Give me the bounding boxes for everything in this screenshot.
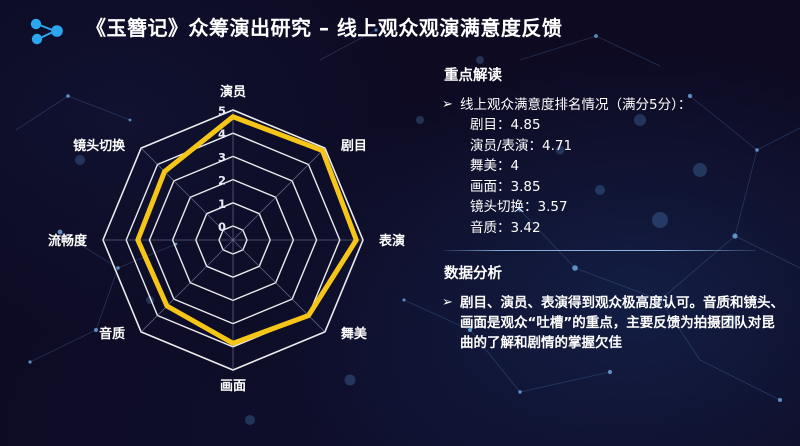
radar-axis-label-5: 音质 [99, 326, 125, 342]
score-item: 镜头切换：3.57 [460, 197, 788, 218]
bullet-arrow-icon: ➢ [442, 293, 460, 312]
radar-tick-1: 1 [218, 197, 226, 211]
radar-axis-label-4: 画面 [220, 379, 246, 394]
panel-title-data-analysis: 数据分析 [444, 262, 788, 283]
bullet-data-analysis: ➢ 剧目、演员、表演得到观众极高度认可。音质和镜头、画面是观众“吐槽”的重点，主… [442, 293, 788, 353]
radar-tick-5: 5 [218, 104, 226, 118]
bullet-body: 剧目、演员、表演得到观众极高度认可。音质和镜头、画面是观众“吐槽”的重点，主要反… [460, 293, 788, 353]
page-title: 《玉簪记》众筹演出研究 – 线上观众观演满意度反馈 [86, 12, 562, 41]
score-item: 舞美：4 [460, 156, 788, 177]
radar-axis-label-3: 舞美 [340, 326, 368, 342]
score-item: 音质：3.42 [460, 218, 788, 239]
slide-footer: 海量 HYLANDA HYLANDA Information Technolog… [0, 402, 800, 446]
radar-axis-label-2: 表演 [378, 233, 405, 249]
radar-axis-label-7: 镜头切换 [73, 138, 126, 154]
slide-canvas: 《玉簪记》众筹演出研究 – 线上观众观演满意度反馈 012345 演员剧目表演舞… [0, 0, 800, 446]
radar-axis-label-6: 流畅度 [48, 233, 88, 249]
radar-tick-0: 0 [218, 220, 226, 234]
radar-tick-3: 3 [218, 150, 226, 164]
bullet-heading: 线上观众满意度排名情况（满分5分）： [460, 95, 788, 115]
analysis-paragraph: 剧目、演员、表演得到观众极高度认可。音质和镜头、画面是观众“吐槽”的重点，主要反… [460, 293, 788, 353]
radar-tick-2: 2 [218, 174, 226, 188]
radar-tick-4: 4 [218, 127, 226, 141]
panel-divider [444, 250, 756, 251]
panel-key-insights: 重点解读 ➢ 线上观众满意度排名情况（满分5分）： 剧目：4.85演员/表演：4… [438, 64, 788, 238]
panel-data-analysis: 数据分析 ➢ 剧目、演员、表演得到观众极高度认可。音质和镜头、画面是观众“吐槽”… [438, 262, 788, 353]
bullet-key-insights: ➢ 线上观众满意度排名情况（满分5分）： 剧目：4.85演员/表演：4.71舞美… [442, 95, 788, 238]
radar-chart: 012345 演员剧目表演舞美画面音质流畅度镜头切换 [0, 58, 430, 408]
radar-axis-labels: 演员剧目表演舞美画面音质流畅度镜头切换 [48, 84, 405, 394]
bullet-body: 线上观众满意度排名情况（满分5分）： 剧目：4.85演员/表演：4.71舞美：4… [460, 95, 788, 238]
bullet-arrow-icon: ➢ [442, 95, 460, 114]
radar-series-polygon [138, 117, 356, 344]
slide-header: 《玉簪记》众筹演出研究 – 线上观众观演满意度反馈 [0, 0, 800, 56]
panel-title-key-insights: 重点解读 [444, 64, 788, 85]
score-item: 演员/表演：4.71 [460, 136, 788, 157]
radar-chart-svg: 012345 演员剧目表演舞美画面音质流畅度镜头切换 [0, 58, 430, 408]
radar-axis-label-0: 演员 [220, 84, 246, 100]
score-item: 画面：3.85 [460, 177, 788, 198]
score-list: 剧目：4.85演员/表演：4.71舞美：4画面：3.85镜头切换：3.57音质：… [460, 115, 788, 238]
radar-axis-label-1: 剧目 [341, 138, 367, 154]
score-item: 剧目：4.85 [460, 115, 788, 136]
network-nodes-icon [26, 16, 68, 46]
